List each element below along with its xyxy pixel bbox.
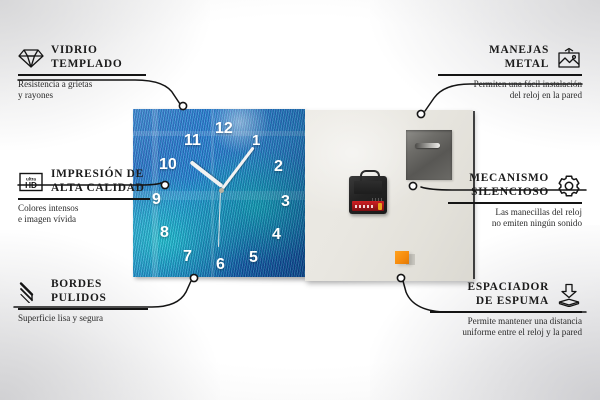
- feature-rule: [438, 74, 582, 75]
- feature-title: MANEJAS METAL: [489, 44, 549, 71]
- clock-number-6: 6: [216, 257, 225, 273]
- feature-title: MECANISMO SILENCIOSO: [469, 172, 549, 199]
- feature-title: IMPRESIÓN DE ALTA CALIDAD: [51, 168, 145, 195]
- infographic-canvas: 12 1 2 3 4 5 6 7 8 9 10 11: [0, 0, 600, 400]
- battery: [352, 201, 384, 211]
- feature-rule: [18, 74, 146, 75]
- clock-number-12: 12: [215, 121, 233, 137]
- foam-spacer-icon: [556, 283, 582, 307]
- mechanism-body: [354, 181, 382, 194]
- product-image: 12 1 2 3 4 5 6 7 8 9 10 11: [133, 109, 473, 280]
- feature-impresion-alta-calidad: ultra HD IMPRESIÓN DE ALTA CALIDAD Color…: [18, 168, 150, 225]
- clock-number-1: 1: [252, 133, 260, 148]
- feature-rule: [18, 308, 148, 309]
- clock-number-11: 11: [184, 133, 201, 149]
- clock-number-3: 3: [281, 194, 290, 210]
- feature-header: BORDES PULIDOS: [18, 278, 148, 305]
- clock-center-cap: [219, 188, 224, 193]
- feature-header: VIDRIO TEMPLADO: [18, 44, 146, 71]
- clock-mechanism: [349, 176, 387, 214]
- clock-number-5: 5: [249, 250, 258, 266]
- feature-description: Colores intensos e imagen vívida: [18, 203, 150, 226]
- feature-rule: [18, 198, 150, 199]
- feature-description: Resistencia a grietas y rayones: [18, 79, 146, 102]
- clock-number-10: 10: [159, 157, 177, 173]
- clock-number-2: 2: [274, 159, 283, 175]
- svg-text:HD: HD: [25, 181, 37, 190]
- battery-label: [355, 205, 375, 208]
- feature-title: ESPACIADOR DE ESPUMA: [468, 281, 549, 308]
- feature-rule: [430, 311, 582, 312]
- clock-number-7: 7: [183, 249, 192, 265]
- feature-description: Superficie lisa y segura: [18, 313, 148, 324]
- clock-number-8: 8: [160, 225, 169, 241]
- clock-face: 12 1 2 3 4 5 6 7 8 9 10 11: [133, 109, 305, 277]
- feature-manejas-metal: MANEJAS METAL Permiten una fácil instala…: [438, 44, 582, 101]
- feature-title: VIDRIO TEMPLADO: [51, 44, 122, 71]
- polished-edges-icon: [18, 280, 44, 304]
- feature-mecanismo-silencioso: MECANISMO SILENCIOSO Las manecillas del …: [448, 172, 582, 229]
- wall-hanger-icon: [556, 46, 582, 70]
- diamond-icon: [18, 46, 44, 70]
- feature-header: ultra HD IMPRESIÓN DE ALTA CALIDAD: [18, 168, 150, 195]
- feature-title: BORDES PULIDOS: [51, 278, 107, 305]
- clock-number-9: 9: [152, 192, 161, 208]
- clock-number-4: 4: [272, 227, 281, 243]
- feature-description: Permite mantener una distancia uniforme …: [430, 316, 582, 339]
- feature-header: MECANISMO SILENCIOSO: [448, 172, 582, 199]
- feature-bordes-pulidos: BORDES PULIDOS Superficie lisa y segura: [18, 278, 148, 324]
- feature-header: MANEJAS METAL: [438, 44, 582, 71]
- foam-spacer: [395, 251, 409, 264]
- hanger-slot: [415, 143, 440, 148]
- ultra-hd-icon: ultra HD: [18, 170, 44, 194]
- feature-description: Las manecillas del reloj no emiten ningú…: [448, 207, 582, 230]
- feature-description: Permiten una fácil instalación del reloj…: [438, 79, 582, 102]
- gear-icon: [556, 174, 582, 198]
- feature-vidrio-templado: VIDRIO TEMPLADO Resistencia a grietas y …: [18, 44, 146, 101]
- feature-header: ESPACIADOR DE ESPUMA: [430, 281, 582, 308]
- metal-hanger-plate: [406, 130, 452, 180]
- feature-espaciador-espuma: ESPACIADOR DE ESPUMA Permite mantener un…: [430, 281, 582, 338]
- battery-terminal: [378, 203, 382, 210]
- feature-rule: [448, 202, 582, 203]
